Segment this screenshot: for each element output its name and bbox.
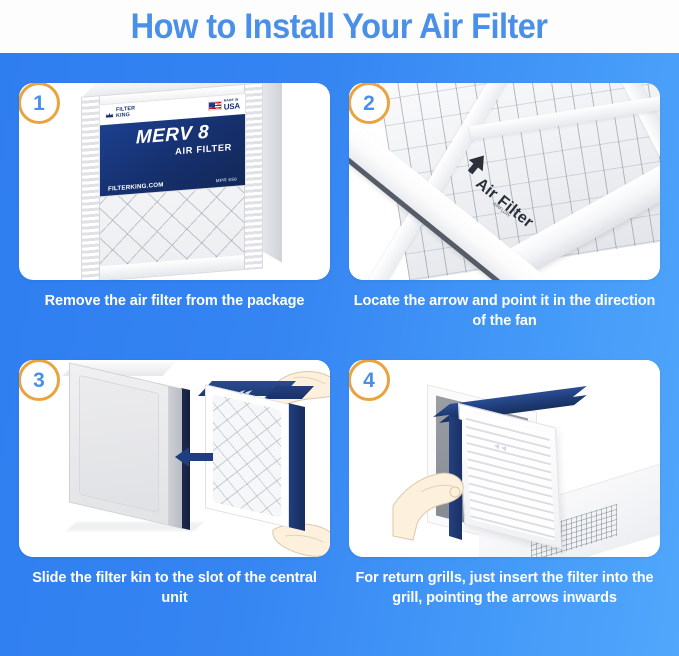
step-1-card: FILTER KING MADE IN USA [19,83,330,280]
step-4-number-badge: 4 [349,360,390,401]
label-main-panel: MERV 8 AIR FILTER FILTERKING.COM MPR 650 [100,114,245,196]
step-1: FILTER KING MADE IN USA [19,83,330,311]
hand-inserting-filter-icon [391,462,491,542]
mpr-rating: MPR 650 [216,177,237,184]
filter-frame-left [82,96,100,280]
usa-flag-icon [208,101,222,111]
step-4-illustration [349,360,660,557]
step-1-caption: Remove the air filter from the package [19,291,330,311]
filter-king-logo: FILTER KING [105,107,135,121]
step-4: 4 For return grills, just insert the fil… [349,360,660,608]
brand-text: FILTER KING [116,107,135,120]
replacement-filter-mesh [213,394,281,518]
replacement-filter-front [205,384,289,527]
header-bar: How to Install Your Air Filter [0,0,679,53]
filter-frame-right [244,84,262,269]
insert-direction-arrow-icon [175,444,213,470]
step-2-caption: Locate the arrow and point it in the dir… [349,291,660,331]
replacement-filter-side-frame [288,403,305,531]
brand-website: FILTERKING.COM [108,181,164,192]
made-in-usa-mark: MADE IN USA [208,99,240,113]
step-4-caption: For return grills, just insert the filte… [349,568,660,608]
steps-background: FILTER KING MADE IN USA [0,53,679,656]
steps-grid: FILTER KING MADE IN USA [0,53,679,656]
step-3-number-badge: 3 [19,360,60,401]
page-title: How to Install Your Air Filter [131,9,548,44]
infographic-root: How to Install Your Air Filter [0,0,679,656]
step-2-card: Air Filter AIRFLOW 2 [349,83,660,280]
step-2: Air Filter AIRFLOW 2 Locate the arrow an… [349,83,660,331]
step-1-illustration: FILTER KING MADE IN USA [19,83,330,280]
step-3-illustration [19,360,330,557]
central-unit-inner-border [79,375,159,513]
step-2-number-badge: 2 [349,83,390,124]
filter-product-label: FILTER KING MADE IN USA [99,93,246,198]
country-label: USA [224,102,240,111]
step-4-card: 4 [349,360,660,557]
filter-product-box: FILTER KING MADE IN USA [81,83,281,280]
step-1-number-badge: 1 [19,83,60,124]
central-unit-front-panel [69,362,169,525]
step-3-card: 3 [19,360,330,557]
made-in-usa-text: MADE IN USA [224,99,240,111]
brand-line-2: KING [116,113,135,120]
filter-box-side-face [262,83,282,263]
crown-icon [105,110,114,120]
step-2-illustration: Air Filter AIRFLOW [349,83,660,280]
step-3-caption: Slide the filter kin to the slot of the … [19,568,330,608]
step-3: 3 Slide the filter kin to the slot of th… [19,360,330,608]
